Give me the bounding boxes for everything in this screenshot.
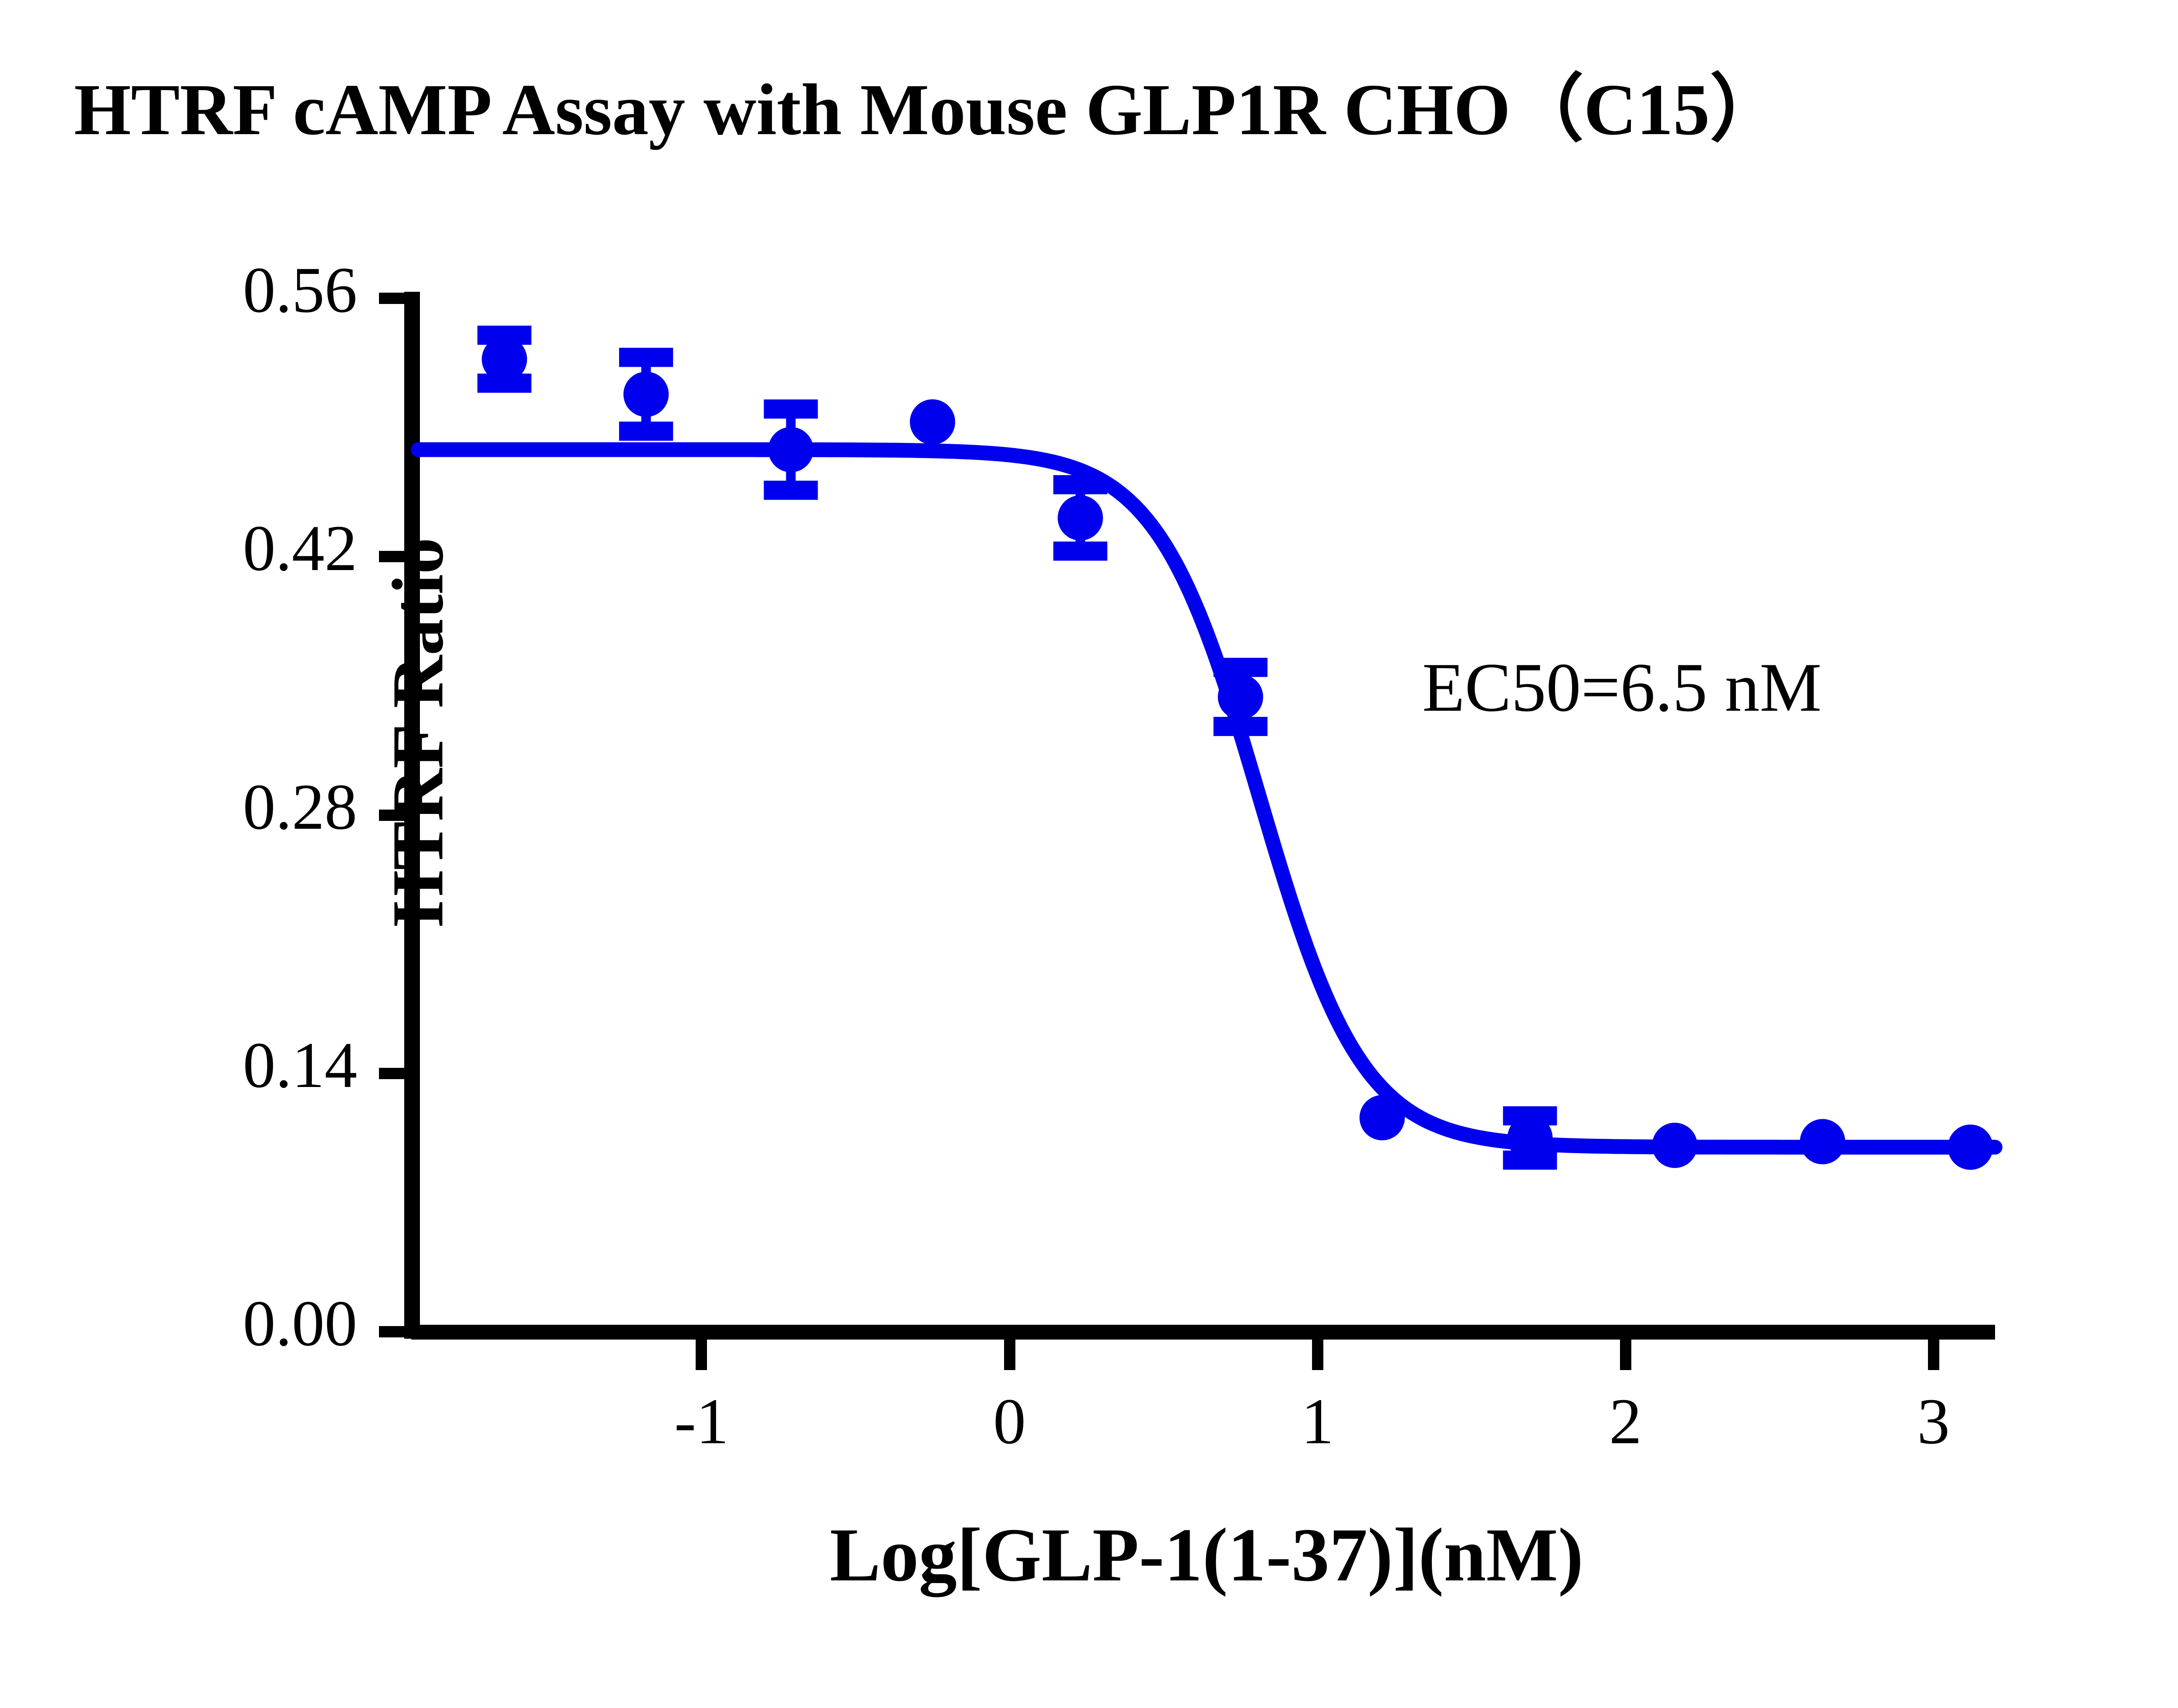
data-point: [1507, 1115, 1552, 1161]
data-point: [482, 337, 527, 382]
x-tick-mark: [1312, 1332, 1323, 1370]
data-point: [1058, 495, 1103, 540]
x-tick-label: 3: [1868, 1384, 1999, 1459]
plot-svg: [418, 298, 1995, 1332]
x-tick-mark: [1928, 1332, 1939, 1370]
chart-figure: HTRF cAMP Assay with Mouse GLP1R CHO（C15…: [0, 0, 2178, 1708]
x-tick-label: -1: [636, 1384, 767, 1459]
y-tick-mark: [379, 1068, 411, 1079]
x-axis-title: Log[GLP-1(1-37)](nM): [418, 1511, 1995, 1599]
x-tick-mark: [1004, 1332, 1015, 1370]
data-point: [910, 399, 955, 445]
y-tick-label: 0.42: [243, 511, 358, 586]
fit-curve: [418, 449, 1995, 1147]
y-tick-mark: [379, 293, 411, 304]
x-tick-mark: [1620, 1332, 1631, 1370]
y-tick-mark: [379, 551, 411, 562]
plot-area: HTRF Ratio 0.000.140.280.420.56 -10123 E…: [418, 298, 1995, 1332]
data-point: [1652, 1123, 1698, 1168]
chart-title: HTRF cAMP Assay with Mouse GLP1R CHO（C15…: [74, 70, 2178, 150]
data-point: [1218, 674, 1263, 719]
ec50-annotation: EC50=6.5 nM: [1422, 647, 1822, 728]
y-tick-mark: [379, 810, 411, 821]
x-tick-label: 0: [944, 1384, 1075, 1459]
data-point: [768, 427, 814, 472]
x-tick-label: 2: [1560, 1384, 1691, 1459]
data-point: [1948, 1124, 1993, 1170]
x-tick-mark: [696, 1332, 707, 1370]
y-tick-label: 0.14: [243, 1028, 358, 1103]
y-tick-label: 0.56: [243, 253, 358, 327]
y-tick-mark: [379, 1326, 411, 1337]
y-tick-label: 0.00: [243, 1286, 358, 1361]
y-tick-label: 0.28: [243, 770, 358, 844]
data-point: [623, 371, 669, 417]
data-point: [1800, 1119, 1845, 1165]
data-point: [1360, 1095, 1405, 1140]
x-tick-label: 1: [1252, 1384, 1383, 1459]
